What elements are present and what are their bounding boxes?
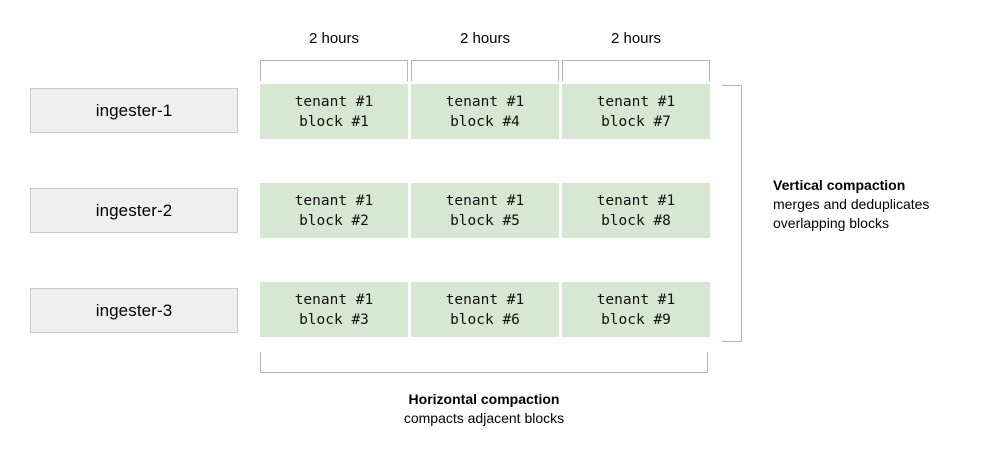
- compaction-diagram: 2 hours 2 hours 2 hours ingester-1 tenan…: [0, 0, 1002, 453]
- horizontal-compaction-title: Horizontal compaction: [260, 390, 708, 409]
- ingester-box-3[interactable]: ingester-3: [30, 288, 238, 333]
- block-tile-r2c1[interactable]: tenant #1 block #2: [260, 183, 408, 238]
- block-id-label: block #9: [601, 310, 671, 330]
- vertical-compaction-title: Vertical compaction: [773, 176, 993, 195]
- vertical-compaction-line-1: merges and deduplicates: [773, 195, 993, 214]
- block-id-label: block #7: [601, 112, 671, 132]
- column-bracket-3: [562, 60, 710, 81]
- block-tile-r3c2[interactable]: tenant #1 block #6: [411, 282, 559, 337]
- block-tenant-label: tenant #1: [597, 191, 676, 211]
- block-tile-r1c2[interactable]: tenant #1 block #4: [411, 84, 559, 139]
- block-tile-r1c3[interactable]: tenant #1 block #7: [562, 84, 710, 139]
- horizontal-compaction-caption: Horizontal compaction compacts adjacent …: [260, 390, 708, 428]
- block-tenant-label: tenant #1: [295, 92, 374, 112]
- block-id-label: block #5: [450, 211, 520, 231]
- horizontal-compaction-bracket: [260, 352, 708, 373]
- block-id-label: block #3: [299, 310, 369, 330]
- block-id-label: block #2: [299, 211, 369, 231]
- block-id-label: block #6: [450, 310, 520, 330]
- column-duration-label-2: 2 hours: [411, 30, 559, 47]
- block-id-label: block #4: [450, 112, 520, 132]
- column-bracket-1: [260, 60, 408, 81]
- column-duration-label-1: 2 hours: [260, 30, 408, 47]
- block-tile-r1c1[interactable]: tenant #1 block #1: [260, 84, 408, 139]
- block-tenant-label: tenant #1: [446, 191, 525, 211]
- block-tenant-label: tenant #1: [597, 92, 676, 112]
- vertical-compaction-line-2: overlapping blocks: [773, 214, 993, 233]
- block-tenant-label: tenant #1: [295, 191, 374, 211]
- block-tenant-label: tenant #1: [446, 290, 525, 310]
- column-duration-label-3: 2 hours: [562, 30, 710, 47]
- ingester-label-1: ingester-1: [96, 101, 173, 121]
- horizontal-compaction-line-1: compacts adjacent blocks: [260, 409, 708, 428]
- block-id-label: block #8: [601, 211, 671, 231]
- ingester-label-3: ingester-3: [96, 301, 173, 321]
- ingester-box-2[interactable]: ingester-2: [30, 188, 238, 233]
- ingester-box-1[interactable]: ingester-1: [30, 88, 238, 133]
- block-tile-r2c2[interactable]: tenant #1 block #5: [411, 183, 559, 238]
- block-tenant-label: tenant #1: [295, 290, 374, 310]
- column-bracket-2: [411, 60, 559, 81]
- vertical-compaction-caption: Vertical compaction merges and deduplica…: [773, 176, 993, 233]
- block-id-label: block #1: [299, 112, 369, 132]
- block-tenant-label: tenant #1: [446, 92, 525, 112]
- block-tile-r3c3[interactable]: tenant #1 block #9: [562, 282, 710, 337]
- vertical-compaction-bracket: [722, 85, 742, 342]
- ingester-label-2: ingester-2: [96, 201, 173, 221]
- block-tile-r2c3[interactable]: tenant #1 block #8: [562, 183, 710, 238]
- block-tenant-label: tenant #1: [597, 290, 676, 310]
- block-tile-r3c1[interactable]: tenant #1 block #3: [260, 282, 408, 337]
